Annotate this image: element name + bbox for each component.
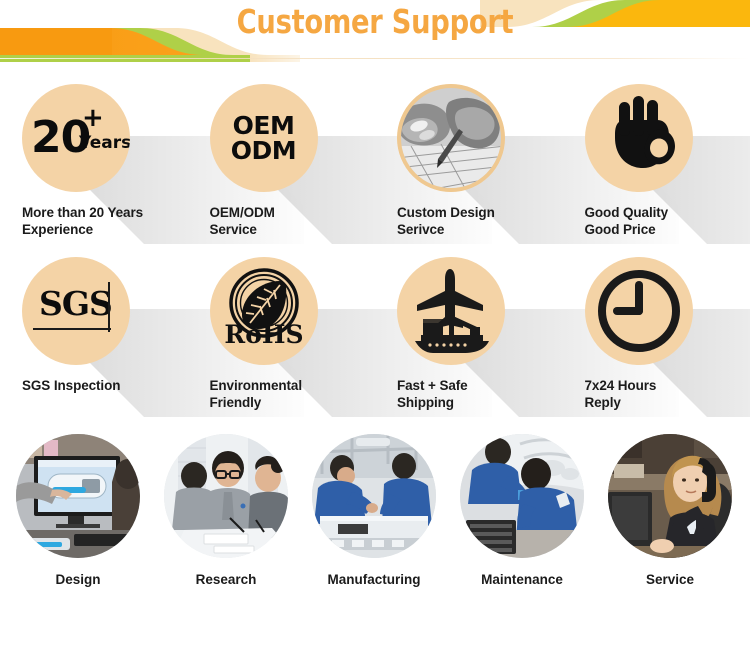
feature-item-reply[interactable]: 7x24 Hours Reply <box>563 245 750 418</box>
feature-label: OEM/ODM Service <box>210 204 376 238</box>
feature-grid: 20 + Years More than 20 Years Experience… <box>0 62 750 418</box>
sgs-logo-icon: SGS <box>22 257 130 365</box>
design-photo <box>16 434 140 558</box>
ok-hand-icon <box>585 84 693 192</box>
feature-item-custom-design[interactable]: Custom Design Serivce <box>375 72 563 245</box>
feature-row-2: SGS SGS Inspection <box>0 245 750 418</box>
badge-wrap <box>397 84 505 192</box>
process-label: Research <box>152 572 300 587</box>
rohs-wordmark: RoHS <box>224 320 303 349</box>
badge-wrap: 20 + Years <box>22 84 130 192</box>
plane-ship-icon <box>397 257 505 365</box>
badge-wrap: SGS <box>22 257 130 365</box>
feature-label: Environmental Friendly <box>210 377 376 411</box>
feature-label: More than 20 Years Experience <box>22 204 188 238</box>
process-label: Service <box>596 572 744 587</box>
badge-wrap: OEM ODM <box>210 84 318 192</box>
clock-icon <box>585 257 693 365</box>
page-header-banner: Customer Support <box>0 0 750 62</box>
process-item-research[interactable]: Research <box>152 434 300 587</box>
twenty-plus-years-icon: 20 + Years <box>22 84 130 192</box>
process-photo-row: Design <box>0 434 750 587</box>
sgs-underline <box>33 328 111 330</box>
badge-wrap <box>585 84 693 192</box>
process-item-design[interactable]: Design <box>4 434 152 587</box>
process-label: Design <box>4 572 152 587</box>
research-photo <box>164 434 288 558</box>
process-item-maintenance[interactable]: Maintenance <box>448 434 596 587</box>
sgs-vertical-rule <box>108 282 110 332</box>
feature-row-1: 20 + Years More than 20 Years Experience… <box>0 72 750 245</box>
feature-item-oem-odm[interactable]: OEM ODM OEM/ODM Service <box>188 72 376 245</box>
badge-wrap <box>585 257 693 365</box>
badge-wrap: RoHS <box>210 257 318 365</box>
feature-item-years[interactable]: 20 + Years More than 20 Years Experience <box>0 72 188 245</box>
feature-item-sgs[interactable]: SGS SGS Inspection <box>0 245 188 418</box>
banner-underline <box>0 58 750 59</box>
feature-item-good-quality[interactable]: Good Quality Good Price <box>563 72 750 245</box>
oem-odm-icon: OEM ODM <box>210 84 318 192</box>
years-unit: Years <box>79 133 130 153</box>
badge-wrap <box>397 257 505 365</box>
sgs-text: SGS <box>39 284 112 323</box>
feature-item-shipping[interactable]: Fast + Safe Shipping <box>375 245 563 418</box>
feature-label: Custom Design Serivce <box>397 204 563 238</box>
odm-line: ODM <box>231 138 296 163</box>
feature-label: Good Quality Good Price <box>585 204 750 238</box>
rohs-leaf-icon: RoHS <box>210 257 318 365</box>
feature-label: Fast + Safe Shipping <box>397 377 563 411</box>
page-title: Customer Support <box>30 2 720 41</box>
manufacturing-photo <box>312 434 436 558</box>
process-item-manufacturing[interactable]: Manufacturing <box>300 434 448 587</box>
hand-drafting-photo-icon <box>397 84 505 192</box>
oem-line: OEM <box>231 113 296 138</box>
service-photo <box>608 434 732 558</box>
years-plus-sign: + <box>82 103 104 133</box>
process-label: Manufacturing <box>300 572 448 587</box>
feature-label: 7x24 Hours Reply <box>585 377 750 411</box>
feature-label: SGS Inspection <box>22 377 188 394</box>
feature-item-rohs[interactable]: RoHS Environmental Friendly <box>188 245 376 418</box>
maintenance-photo <box>460 434 584 558</box>
process-label: Maintenance <box>448 572 596 587</box>
process-item-service[interactable]: Service <box>596 434 744 587</box>
